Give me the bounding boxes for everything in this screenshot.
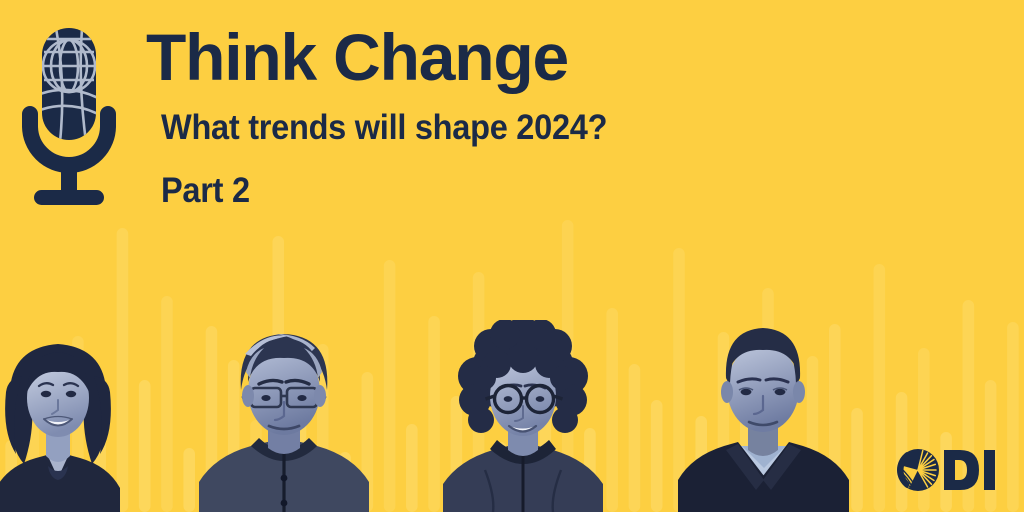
- waveform-bar: [1007, 322, 1019, 512]
- episode-part-label: Part 2: [161, 173, 607, 208]
- waveform-bar: [651, 400, 663, 512]
- waveform-bar: [406, 424, 418, 512]
- waveform-bar: [384, 260, 396, 512]
- episode-subtitle: What trends will shape 2024?: [161, 110, 607, 145]
- odi-logo-letter-d: [944, 450, 979, 490]
- waveform-bar: [161, 296, 173, 512]
- odi-logo[interactable]: ODI: [896, 446, 996, 494]
- speaker-portrait-1: [0, 320, 134, 512]
- waveform-bar: [629, 364, 641, 512]
- title-block: Think Change What trends will shape 2024…: [146, 24, 641, 208]
- speaker-portrait-4: [676, 320, 851, 512]
- microphone-globe-icon: [14, 22, 124, 212]
- waveform-bar: [851, 408, 863, 512]
- podcast-promo-poster: Think Change What trends will shape 2024…: [0, 0, 1024, 512]
- speaker-portrait-3: [437, 320, 609, 512]
- page-title: Think Change: [146, 24, 641, 90]
- odi-logo-letter-i: [984, 450, 995, 490]
- speaker-portrait-2: [193, 320, 375, 512]
- odi-logo-mark: [897, 449, 939, 491]
- waveform-bar: [874, 264, 886, 512]
- waveform-bar: [139, 380, 151, 512]
